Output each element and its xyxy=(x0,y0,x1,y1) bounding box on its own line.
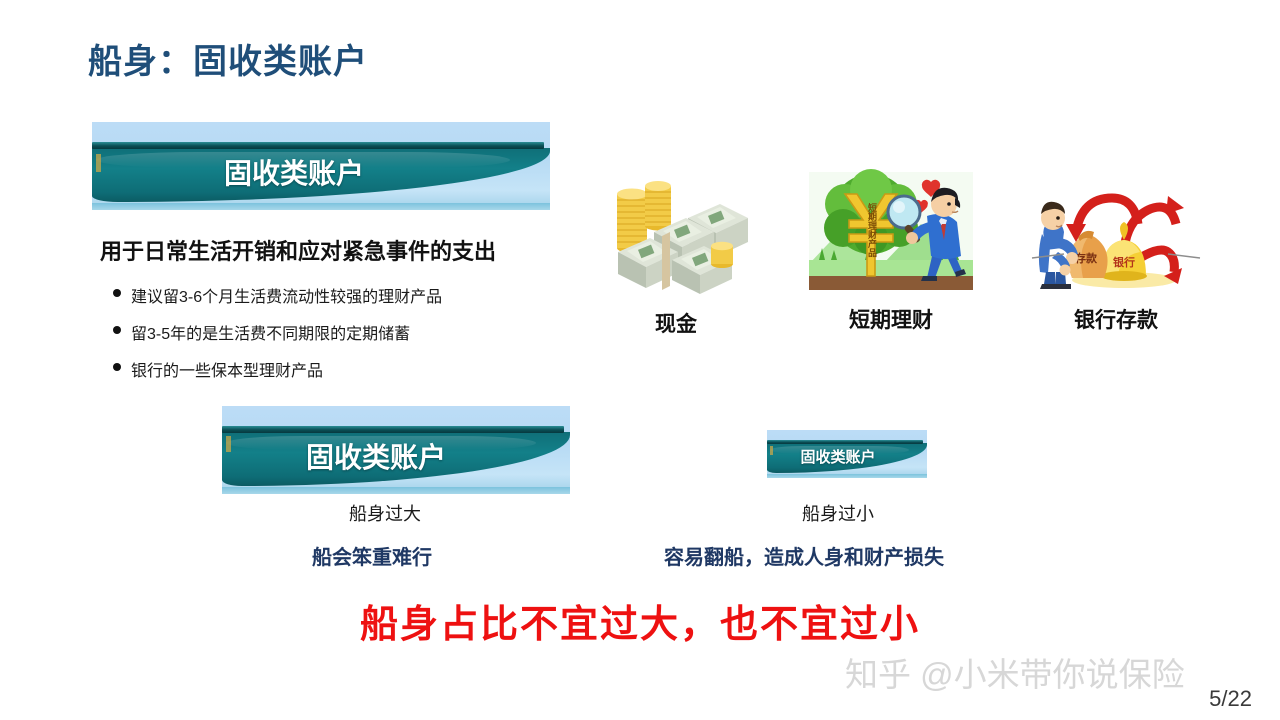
key-message-headline: 船身占比不宜过大，也不宜过小 xyxy=(0,593,1280,648)
product-caption: 现金 xyxy=(596,308,756,338)
lead-statement: 用于日常生活开销和应对紧急事件的支出 xyxy=(100,234,496,266)
product-card-bank: 银行 存款 xyxy=(1028,180,1204,334)
bag-text: 存款 xyxy=(1075,251,1098,265)
boat-banner-too-small: 固收类账户 xyxy=(767,430,927,478)
boat-waterline xyxy=(92,203,550,210)
page-number: 5/22 xyxy=(1209,686,1252,712)
too-big-conclusion: 船会笨重难行 xyxy=(312,541,432,570)
page-title: 船身：固收类账户 xyxy=(88,34,368,83)
boat-banner-label: 固收类账户 xyxy=(767,446,909,467)
boat-waterline xyxy=(222,487,570,494)
boat-deck-rail xyxy=(92,142,544,149)
boat-deck-rail xyxy=(222,426,564,433)
boat-banner-label: 固收类账户 xyxy=(92,152,496,192)
product-card-cash: 现金 xyxy=(596,160,756,338)
tree-trunk-text: 短期理财产品 xyxy=(866,202,878,258)
cash-stack-icon xyxy=(596,160,756,300)
list-item: 留3-5年的是生活费不同期限的定期储蓄 xyxy=(113,320,442,344)
bank-deposit-icon: 银行 存款 xyxy=(1028,180,1204,296)
too-big-note: 船身过大 xyxy=(349,500,421,526)
money-tree-icon: 短期理财产品 xyxy=(805,168,977,296)
list-item: 银行的一些保本型理财产品 xyxy=(113,357,442,381)
product-caption: 短期理财 xyxy=(805,304,977,334)
boat-deck-rail xyxy=(767,440,923,444)
list-item: 建议留3-6个月生活费流动性较强的理财产品 xyxy=(113,283,442,307)
slide-canvas: 船身：固收类账户 固收类账户 用于日常生活开销和应对紧急事件的支出 建议留3-6… xyxy=(0,0,1280,720)
ingot-text: 银行 xyxy=(1113,255,1135,269)
too-small-note: 船身过小 xyxy=(802,500,874,526)
boat-banner-label: 固收类账户 xyxy=(222,436,530,476)
watermark: 知乎 @小米带你说保险 xyxy=(845,648,1185,696)
boat-banner-main: 固收类账户 xyxy=(92,122,550,210)
too-small-conclusion: 容易翻船，造成人身和财产损失 xyxy=(664,541,944,570)
bullet-list: 建议留3-6个月生活费流动性较强的理财产品 留3-5年的是生活费不同期限的定期储… xyxy=(113,283,442,394)
product-caption: 银行存款 xyxy=(1028,304,1204,334)
product-card-short-term: 短期理财产品 xyxy=(805,168,977,334)
boat-waterline xyxy=(767,474,927,478)
boat-banner-too-big: 固收类账户 xyxy=(222,406,570,494)
